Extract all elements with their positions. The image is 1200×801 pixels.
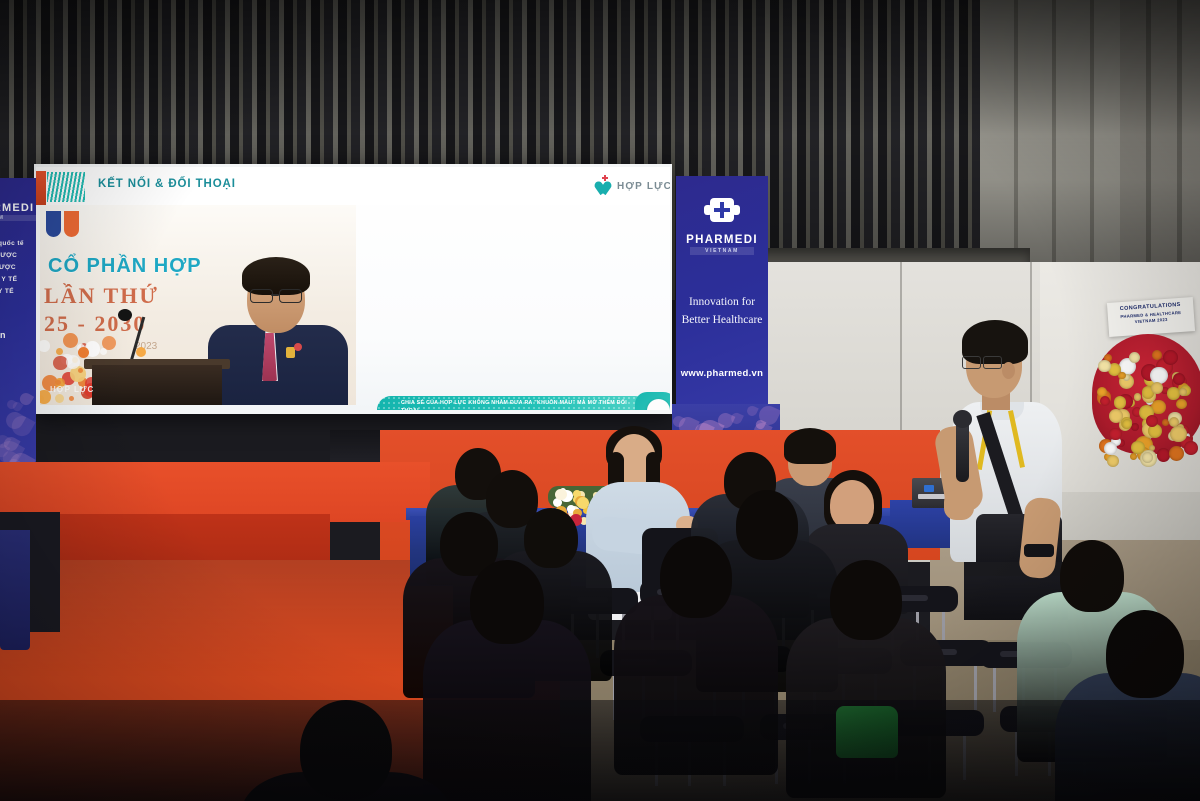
audience-person-head bbox=[830, 560, 902, 640]
audience-person-head bbox=[660, 536, 732, 618]
audience-rows bbox=[0, 0, 1200, 801]
audience-person-head bbox=[524, 508, 578, 568]
audience-person-head bbox=[1060, 540, 1124, 612]
conference-photo-scene: CONGRATULATIONS PHARMED & HEALTHCARE VIE… bbox=[0, 0, 1200, 801]
audience-person-head bbox=[736, 490, 798, 560]
foreground-shadow bbox=[0, 700, 1200, 801]
audience-person-head bbox=[470, 560, 544, 644]
audience-person-head bbox=[1106, 610, 1184, 698]
